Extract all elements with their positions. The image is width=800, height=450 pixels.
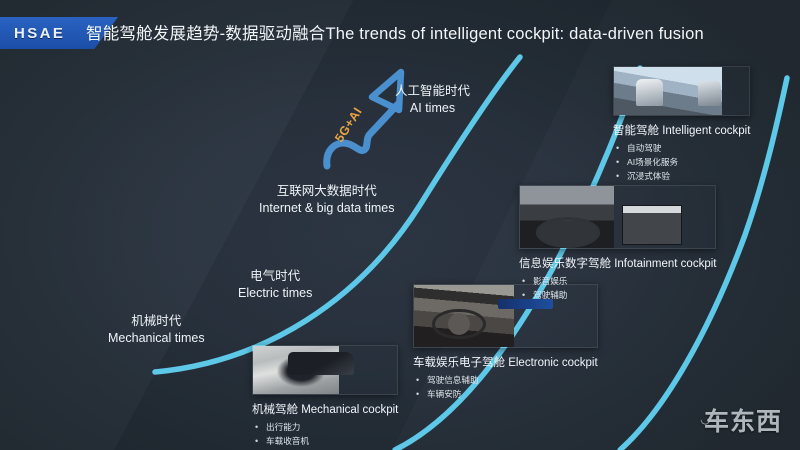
list-item: 驾驶辅助	[519, 289, 716, 303]
cockpit-thumbnail	[252, 345, 398, 395]
cockpit-card-intelligent: 智能驾舱 Intelligent cockpit 自动驾驶 AI场景化服务 沉浸…	[613, 66, 750, 184]
era-label-en: Internet & big data times	[259, 200, 395, 217]
cockpit-card-infotainment: 信息娱乐数字驾舱 Infotainment cockpit 影音娱乐 驾驶辅助	[519, 185, 716, 303]
list-item: 沉浸式体验	[613, 170, 750, 184]
slide-canvas: HSAE 智能驾舱发展趋势-数据驱动融合The trends of intell…	[0, 0, 800, 450]
up-arrow-icon	[327, 72, 401, 166]
list-item: 车载收音机	[252, 435, 398, 449]
slide-header: HSAE 智能驾舱发展趋势-数据驱动融合The trends of intell…	[0, 17, 800, 49]
list-item: 出行能力	[252, 421, 398, 435]
era-label-mechanical: 机械时代 Mechanical times	[108, 313, 205, 346]
era-label-cn: 人工智能时代	[395, 83, 470, 100]
era-label-internet: 互联网大数据时代 Internet & big data times	[259, 183, 395, 216]
cockpit-feature-list: 驾驶信息辅助 车辆安防	[413, 374, 598, 402]
list-item: 影音娱乐	[519, 275, 716, 289]
watermark-text: 车东西	[704, 408, 782, 436]
car-dashboard-photo	[414, 285, 514, 347]
logo-text: HSAE	[14, 25, 65, 42]
era-label-cn: 机械时代	[108, 313, 205, 330]
era-label-ai: 人工智能时代 AI times	[395, 83, 470, 116]
era-label-en: Electric times	[238, 285, 312, 302]
era-label-cn: 互联网大数据时代	[259, 183, 395, 200]
list-item: AI场景化服务	[613, 156, 750, 170]
digital-cockpit-photo	[520, 186, 614, 248]
era-label-en: Mechanical times	[108, 330, 205, 347]
watermark: ◡车东西	[701, 402, 782, 438]
cockpit-feature-list: 出行能力 车载收音机	[252, 421, 398, 449]
cockpit-card-mechanical: 机械驾舱 Mechanical cockpit 出行能力 车载收音机	[252, 345, 398, 449]
cockpit-caption: 信息娱乐数字驾舱 Infotainment cockpit	[519, 255, 716, 271]
era-label-en: AI times	[395, 100, 470, 117]
cockpit-thumbnail	[613, 66, 750, 116]
vintage-car-photo	[253, 346, 339, 394]
page-title: 智能驾舱发展趋势-数据驱动融合The trends of intelligent…	[86, 20, 704, 44]
autonomous-lounge-photo	[614, 67, 722, 115]
list-item: 自动驾驶	[613, 142, 750, 156]
list-item: 驾驶信息辅助	[413, 374, 598, 388]
list-item: 车辆安防	[413, 388, 598, 402]
cockpit-feature-list: 自动驾驶 AI场景化服务 沉浸式体验	[613, 142, 750, 184]
cockpit-caption: 车载娱乐电子驾舱 Electronic cockpit	[413, 354, 598, 370]
cockpit-caption: 智能驾舱 Intelligent cockpit	[613, 122, 750, 138]
era-label-electric: 电气时代 Electric times	[238, 268, 312, 301]
era-label-cn: 电气时代	[238, 268, 312, 285]
cockpit-thumbnail	[519, 185, 716, 249]
cockpit-caption: 机械驾舱 Mechanical cockpit	[252, 401, 398, 417]
cockpit-feature-list: 影音娱乐 驾驶辅助	[519, 275, 716, 303]
